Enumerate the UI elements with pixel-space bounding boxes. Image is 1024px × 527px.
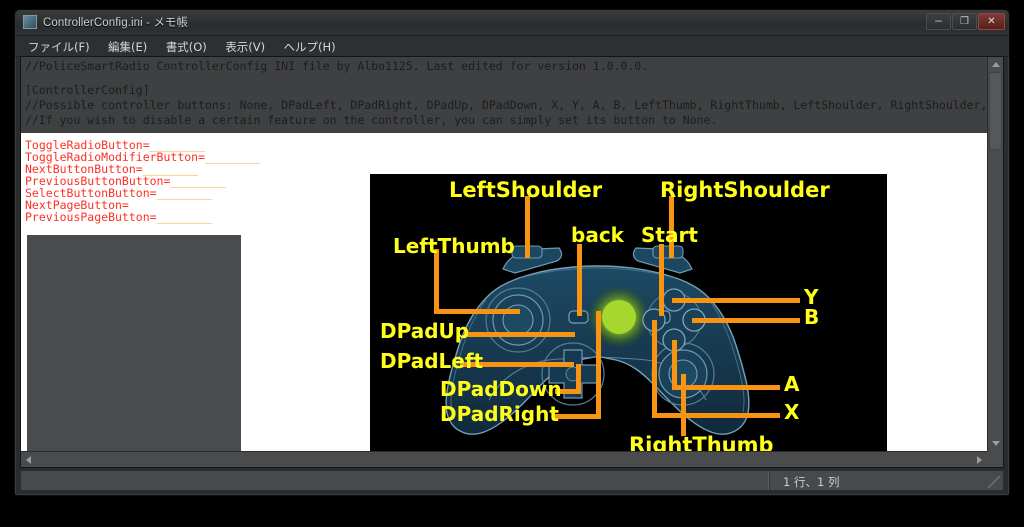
resize-grip-icon[interactable] [988, 476, 1000, 488]
status-divider-2 [769, 471, 770, 490]
leader-dpadright-h [555, 414, 601, 419]
window-title: ControllerConfig.ini - メモ帳 [43, 14, 188, 30]
leader-back [577, 244, 582, 316]
label-dpaddown: DPadDown [440, 379, 562, 399]
label-b: B [804, 307, 819, 327]
label-start: Start [641, 225, 698, 245]
vertical-scrollbar[interactable] [987, 57, 1003, 451]
comment-line-1: //PoliceSmartRadio ControllerConfig INI … [25, 60, 648, 72]
leader-a-v [672, 340, 677, 390]
document-lower-region: ToggleRadioButton=________ ToggleRadioMo… [21, 133, 987, 451]
menu-help[interactable]: ヘルプ(H) [277, 36, 343, 55]
controller-diagram-image: LeftShoulder RightShoulder back Start Le… [370, 174, 887, 468]
label-dpadleft: DPadLeft [380, 351, 483, 371]
comment-line-3: [ControllerConfig] [25, 84, 150, 96]
menu-file[interactable]: ファイル(F) [21, 36, 97, 55]
minimize-button[interactable]: – [926, 13, 951, 30]
label-y: Y [804, 287, 818, 307]
leader-b [692, 318, 800, 323]
leader-leftthumb-h [434, 309, 520, 314]
menu-format[interactable]: 書式(O) [159, 36, 214, 55]
label-dpadup: DPadUp [380, 321, 469, 341]
leader-start [659, 244, 664, 316]
text-editor-area[interactable]: //PoliceSmartRadio ControllerConfig INI … [20, 56, 1004, 468]
ini-blank: ________ [157, 186, 212, 200]
menu-bar: ファイル(F) 編集(E) 書式(O) 表示(V) ヘルプ(H) [15, 36, 1009, 57]
vertical-scroll-thumb[interactable] [989, 72, 1002, 150]
leader-x-v [652, 320, 657, 418]
scroll-right-icon[interactable] [977, 456, 982, 464]
dimmed-overlay-block [27, 235, 241, 451]
leader-a-h [672, 385, 780, 390]
leader-leftshoulder [525, 196, 530, 258]
leader-dpadup [465, 332, 575, 337]
label-x: X [784, 402, 799, 422]
ini-blank: ________ [205, 150, 260, 164]
notepad-window: ControllerConfig.ini - メモ帳 – ❐ ✕ ファイル(F)… [14, 9, 1010, 496]
leader-dpadright-v [596, 311, 601, 419]
scrollbar-corner [987, 451, 1003, 467]
minimize-icon: – [927, 15, 950, 25]
menu-view[interactable]: 表示(V) [218, 36, 272, 55]
title-bar[interactable]: ControllerConfig.ini - メモ帳 – ❐ ✕ [15, 10, 1009, 36]
leader-x-h [652, 413, 780, 418]
desktop-background: ControllerConfig.ini - メモ帳 – ❐ ✕ ファイル(F)… [0, 0, 1024, 527]
label-back: back [571, 225, 624, 245]
notepad-icon [23, 15, 37, 29]
ini-key: PreviousPageButton= [25, 210, 157, 224]
label-dpadright: DPadRight [440, 404, 559, 424]
ini-entry-previouspagebutton: PreviousPageButton=________ [25, 211, 212, 223]
close-icon: ✕ [979, 17, 1004, 27]
leader-rightthumb [681, 374, 686, 436]
label-leftthumb: LeftThumb [393, 236, 515, 256]
cursor-position-text: 1 行、1 列 [783, 474, 839, 490]
maximize-button[interactable]: ❐ [952, 13, 977, 30]
horizontal-scrollbar[interactable] [21, 451, 987, 467]
scroll-left-icon[interactable] [26, 456, 31, 464]
leader-y [672, 298, 800, 303]
maximize-icon: ❐ [953, 17, 976, 27]
close-button[interactable]: ✕ [978, 13, 1005, 30]
comment-line-4: //Possible controller buttons: None, DPa… [25, 99, 1004, 111]
label-a: A [784, 374, 799, 394]
label-rightshoulder: RightShoulder [660, 180, 830, 201]
scroll-up-icon[interactable] [992, 62, 1000, 67]
leader-leftthumb-v [434, 249, 439, 314]
document-upper-region: //PoliceSmartRadio ControllerConfig INI … [21, 57, 987, 133]
comment-line-5: //If you wish to disable a certain featu… [25, 114, 717, 126]
status-bar: 1 行、1 列 [20, 470, 1004, 491]
ini-blank: ________ [157, 210, 212, 224]
menu-edit[interactable]: 編集(E) [101, 36, 154, 55]
scroll-down-icon[interactable] [992, 441, 1000, 446]
label-leftshoulder: LeftShoulder [449, 180, 602, 201]
